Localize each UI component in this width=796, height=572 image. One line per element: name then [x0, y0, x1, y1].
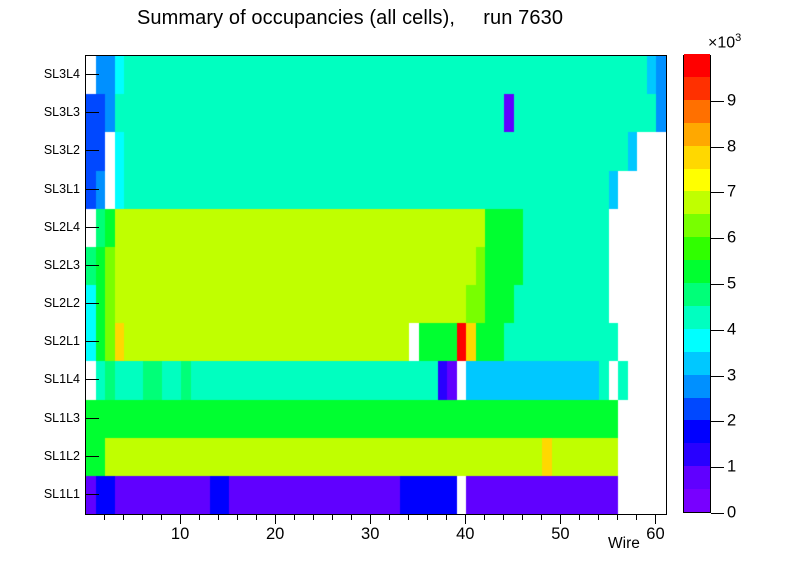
colorbar-tick	[711, 330, 724, 331]
colorbar-tick-label: 8	[727, 137, 736, 156]
colorbar-exponent-power: 3	[735, 32, 741, 44]
x-axis-tick-label: 40	[456, 525, 474, 544]
x-axis-minor-tick	[256, 514, 257, 520]
x-axis-minor-tick	[142, 514, 143, 520]
colorbar-tick	[711, 238, 724, 239]
x-axis-major-tick	[655, 514, 656, 524]
x-axis-minor-tick	[313, 514, 314, 520]
x-axis-minor-tick	[446, 514, 447, 520]
y-axis-label-sl3l3: SL3L3	[2, 105, 80, 119]
colorbar-band	[684, 305, 710, 328]
x-axis-minor-tick	[408, 514, 409, 520]
plot-frame[interactable]	[85, 55, 667, 515]
y-axis-tick	[86, 227, 99, 228]
colorbar-tick	[711, 192, 724, 193]
x-axis-major-tick	[275, 514, 276, 524]
x-axis-minor-tick	[598, 514, 599, 520]
colorbar-band	[684, 328, 710, 351]
y-axis-tick	[86, 74, 99, 75]
x-axis-minor-tick	[636, 514, 637, 520]
colorbar-band	[684, 489, 710, 512]
y-axis-label-sl1l1: SL1L1	[2, 487, 80, 501]
y-axis-tick	[86, 189, 99, 190]
colorbar[interactable]: 0123456789	[683, 55, 793, 513]
x-axis-minor-tick	[332, 514, 333, 520]
colorbar-tick	[711, 284, 724, 285]
colorbar-band	[684, 237, 710, 260]
colorbar-tick-label: 2	[727, 412, 736, 431]
y-axis: SL3L4SL3L3SL3L2SL3L1SL2L4SL2L3SL2L2SL2L1…	[0, 55, 80, 513]
colorbar-tick-label: 5	[727, 275, 736, 294]
y-axis-tick	[86, 494, 99, 495]
y-axis-label-sl3l4: SL3L4	[2, 67, 80, 81]
x-axis-minor-tick	[389, 514, 390, 520]
colorbar-band	[684, 99, 710, 122]
x-axis-minor-tick	[161, 514, 162, 520]
y-axis-label-sl2l2: SL2L2	[2, 296, 80, 310]
x-axis-minor-tick	[484, 514, 485, 520]
y-axis-tick	[86, 112, 99, 113]
y-axis-label-sl2l3: SL2L3	[2, 258, 80, 272]
y-axis-tick	[86, 456, 99, 457]
colorbar-tick	[711, 376, 724, 377]
x-axis-major-tick	[370, 514, 371, 524]
x-axis-tick-label: 20	[266, 525, 284, 544]
colorbar-gradient	[683, 55, 711, 513]
x-axis-minor-tick	[541, 514, 542, 520]
y-axis-label-sl3l2: SL3L2	[2, 143, 80, 157]
colorbar-band	[684, 145, 710, 168]
x-axis-minor-tick	[294, 514, 295, 520]
x-axis-major-tick	[465, 514, 466, 524]
colorbar-band	[684, 122, 710, 145]
colorbar-band	[684, 420, 710, 443]
colorbar-band	[684, 76, 710, 99]
colorbar-band	[684, 214, 710, 237]
y-axis-label-sl1l4: SL1L4	[2, 372, 80, 386]
x-axis-major-tick	[560, 514, 561, 524]
colorbar-band	[684, 191, 710, 214]
colorbar-tick-label: 7	[727, 183, 736, 202]
y-axis-label-sl2l4: SL2L4	[2, 220, 80, 234]
x-axis-tick-label: 60	[646, 525, 664, 544]
y-axis-tick	[86, 150, 99, 151]
y-axis-label-sl1l2: SL1L2	[2, 449, 80, 463]
colorbar-tick-label: 9	[727, 91, 736, 110]
x-axis-tick-label: 30	[361, 525, 379, 544]
x-axis-major-tick	[180, 514, 181, 524]
x-axis-minor-tick	[503, 514, 504, 520]
colorbar-tick	[711, 147, 724, 148]
colorbar-tick-label: 3	[727, 366, 736, 385]
y-axis-label-sl3l1: SL3L1	[2, 182, 80, 196]
x-axis-minor-tick	[617, 514, 618, 520]
y-axis-tick	[86, 265, 99, 266]
x-axis-tick-label: 50	[551, 525, 569, 544]
colorbar-tick-label: 6	[727, 229, 736, 248]
x-axis-tick-label: 10	[171, 525, 189, 544]
y-axis-label-sl2l1: SL2L1	[2, 334, 80, 348]
colorbar-tick	[711, 513, 724, 514]
x-axis-minor-tick	[199, 514, 200, 520]
colorbar-tick-label: 1	[727, 458, 736, 477]
x-axis-minor-tick	[237, 514, 238, 520]
colorbar-band	[684, 54, 710, 77]
colorbar-band	[684, 351, 710, 374]
x-axis-minor-tick	[522, 514, 523, 520]
colorbar-band	[684, 374, 710, 397]
x-axis-title: Wire	[608, 535, 640, 553]
y-axis-tick	[86, 341, 99, 342]
colorbar-band	[684, 397, 710, 420]
colorbar-band	[684, 283, 710, 306]
y-axis-tick	[86, 379, 99, 380]
x-axis-minor-tick	[104, 514, 105, 520]
y-axis-tick	[86, 303, 99, 304]
colorbar-tick	[711, 467, 724, 468]
colorbar-tick	[711, 101, 724, 102]
colorbar-band	[684, 260, 710, 283]
page-title: Summary of occupancies (all cells), run …	[0, 7, 700, 30]
x-axis-minor-tick	[123, 514, 124, 520]
colorbar-exponent: ×103	[708, 32, 741, 52]
x-axis-minor-tick	[427, 514, 428, 520]
x-axis-minor-tick	[579, 514, 580, 520]
root-canvas: Summary of occupancies (all cells), run …	[0, 0, 796, 572]
y-axis-label-sl1l3: SL1L3	[2, 411, 80, 425]
colorbar-band	[684, 443, 710, 466]
colorbar-tick-label: 0	[727, 504, 736, 523]
colorbar-tick-label: 4	[727, 320, 736, 339]
colorbar-band	[684, 466, 710, 489]
colorbar-band	[684, 168, 710, 191]
y-axis-tick	[86, 418, 99, 419]
occupancy-heatmap[interactable]	[86, 56, 666, 514]
x-axis-minor-tick	[351, 514, 352, 520]
x-axis: 102030405060	[85, 514, 667, 554]
colorbar-tick	[711, 421, 724, 422]
x-axis-minor-tick	[218, 514, 219, 520]
colorbar-exponent-base: ×10	[708, 34, 735, 51]
